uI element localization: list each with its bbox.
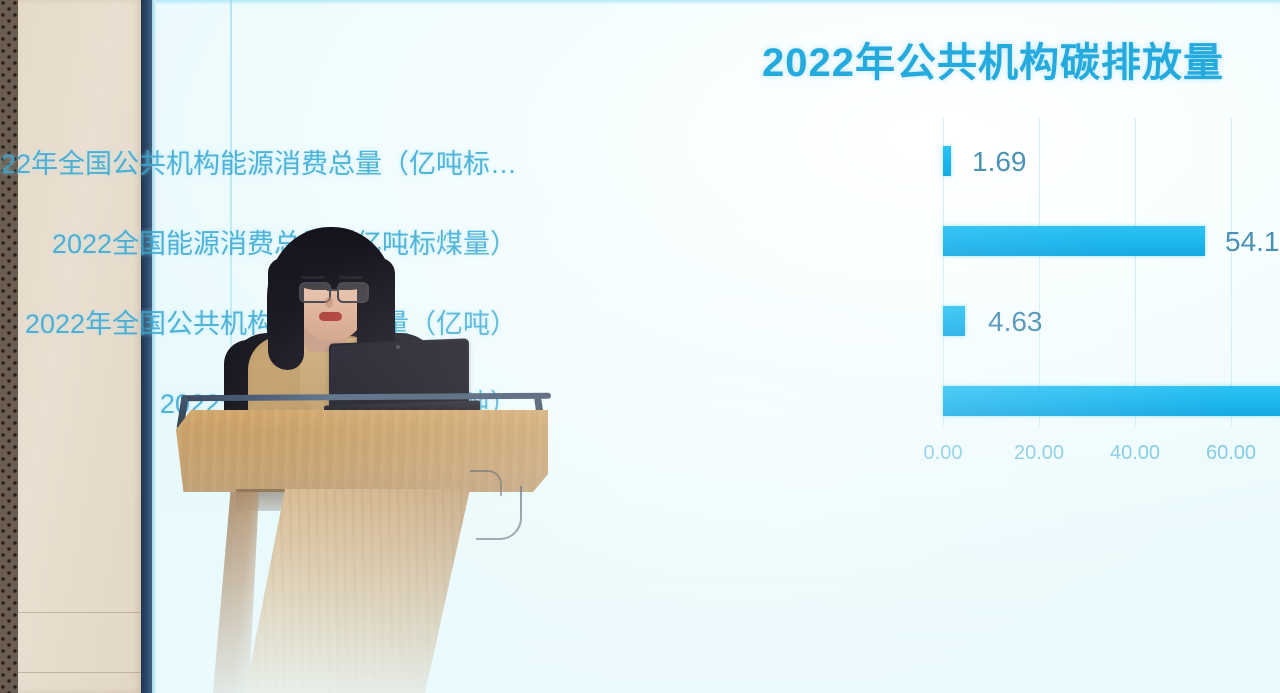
chart-bar [943, 146, 951, 176]
slide-title: 2022年公共机构碳排放量 [762, 30, 1224, 88]
wall-panel-seam [18, 672, 141, 673]
screen-top-glow [156, 0, 1280, 5]
chart-category-label: 2022年全国公共机构能源消费总量（亿吨标… [0, 142, 517, 181]
x-tick-label: 0.00 [924, 442, 963, 465]
chart-value-label: 54.1 [1225, 226, 1280, 258]
chart-bar [943, 226, 1205, 256]
chart-bar [943, 306, 965, 336]
chart-bar [943, 386, 1280, 416]
chart-value-label: 4.63 [988, 306, 1043, 338]
chart-category-label: 2022全国能源消费总量（亿吨标煤量） [52, 222, 517, 261]
x-tick-label: 40.00 [1110, 442, 1160, 465]
wall-panel [18, 0, 141, 693]
chart-category-label: 2022年全国公共机构碳排放总量（亿吨） [25, 302, 517, 341]
x-tick-label: 60.00 [1206, 442, 1256, 465]
chart-row: 2022年全国公共机构能源消费总量（亿吨标… 1.69 [240, 126, 1280, 196]
cable [470, 470, 502, 496]
chart-x-axis: 0.00 20.00 40.00 60.00 [943, 442, 1280, 472]
perforated-acoustic-panel [0, 0, 18, 693]
presentation-screenshot: 2022年公共机构碳排放量 2022年全国公共机构能源消费总量（亿吨标… 1.6… [0, 0, 1280, 693]
laptop-webcam-icon [396, 345, 400, 349]
x-tick-label: 20.00 [1014, 442, 1064, 465]
wall-panel-seam [18, 612, 141, 613]
chart-value-label: 1.69 [972, 146, 1027, 178]
chart-row: 2022全国能源消费总量（亿吨标煤量） 54.1 [240, 206, 1280, 276]
